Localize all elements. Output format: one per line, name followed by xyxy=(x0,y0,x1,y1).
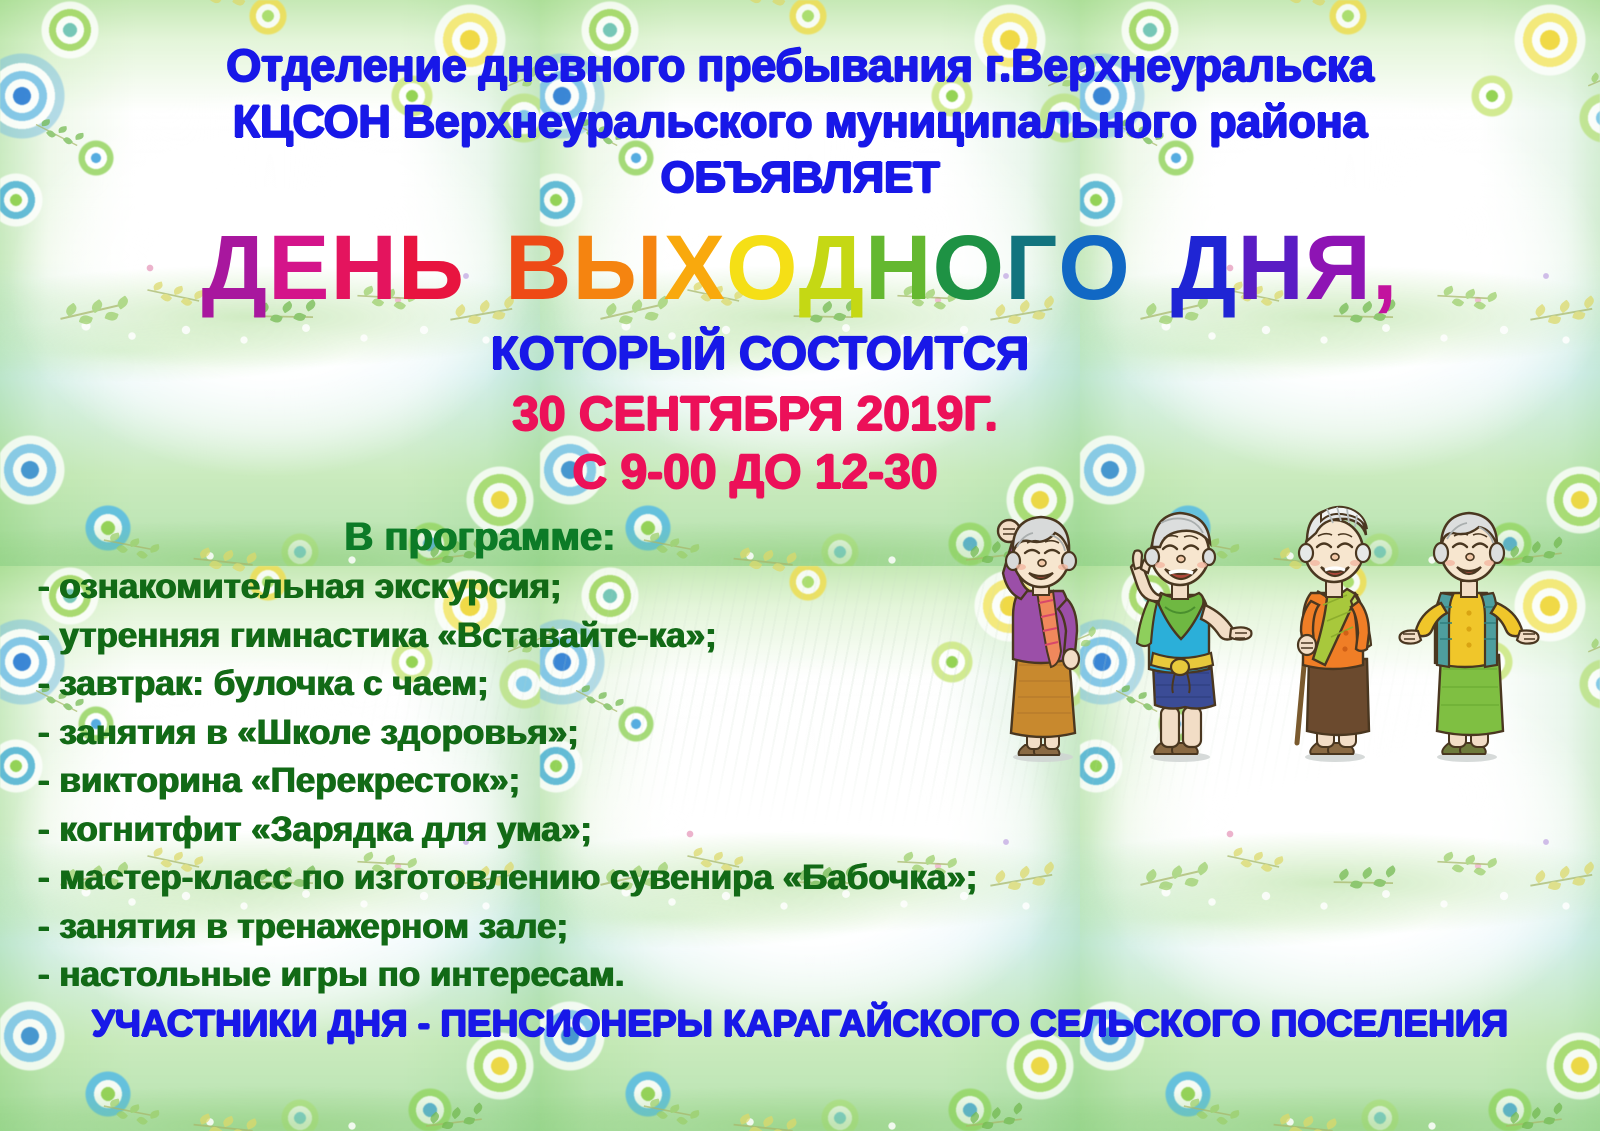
title-letter: В xyxy=(505,216,572,320)
datetime-block: 30 СЕНТЯБРЯ 2019Г. С 9-00 ДО 12-30 xyxy=(0,386,1600,502)
program-list-item: - когнитфит «Зарядка для ума»; xyxy=(38,806,1188,855)
event-time: С 9-00 ДО 12-30 xyxy=(0,444,1510,502)
title-letter: Д xyxy=(202,216,269,320)
title-letter: Я xyxy=(1305,216,1372,320)
program-list-item: - настольные игры по интересам. xyxy=(38,951,1188,1000)
figure-elderly-man-pointing xyxy=(1131,513,1251,762)
page-title-rainbow: ДЕНЬВЫХОДНОГОДНЯ, xyxy=(0,216,1600,320)
event-date: 30 СЕНТЯБРЯ 2019Г. xyxy=(0,386,1510,444)
figure-elderly-man-with-cane xyxy=(1297,507,1371,762)
title-letter: О xyxy=(726,216,799,320)
title-letter: , xyxy=(1372,216,1399,320)
title-letter: Г xyxy=(1005,216,1058,320)
subtitle-block: КОТОРЫЙ СОСТОИТСЯ xyxy=(0,326,1600,380)
poster-content: Отделение дневного пребывания г.Верхнеур… xyxy=(0,0,1600,1131)
title-letter: О xyxy=(933,216,1006,320)
title-letter: Н xyxy=(865,216,932,320)
poster-root: Отделение дневного пребывания г.Верхнеур… xyxy=(0,0,1600,1131)
title-letter: Х xyxy=(664,216,726,320)
poster-header: Отделение дневного пребывания г.Верхнеур… xyxy=(0,38,1600,206)
title-letter: Д xyxy=(799,216,866,320)
program-list-item: - мастер-класс по изготовлению сувенира … xyxy=(38,854,1188,903)
figure-elderly-woman-raised-fist xyxy=(998,517,1079,762)
title-letter: Н xyxy=(330,216,397,320)
title-letter: О xyxy=(1058,216,1131,320)
footer-participants: УЧАСТНИКИ ДНЯ - ПЕНСИОНЕРЫ КАРАГАЙСКОГО … xyxy=(0,1000,1600,1048)
header-line-announces: ОБЪЯВЛЯЕТ xyxy=(0,150,1600,206)
title-letter: Д xyxy=(1171,216,1238,320)
program-list-item: - занятия в тренажерном зале; xyxy=(38,903,1188,952)
title-letter: Ь xyxy=(398,216,465,320)
figure-elderly-woman-open-arms xyxy=(1400,513,1539,762)
program-list-item: - викторина «Перекресток»; xyxy=(38,757,1188,806)
title-letter: Ы xyxy=(572,216,663,320)
title-letter: Е xyxy=(268,216,330,320)
header-line-department: КЦСОН Верхнеуральского муниципального ра… xyxy=(0,94,1600,150)
four-elderly-people-clipart xyxy=(975,495,1545,763)
header-line-organization: Отделение дневного пребывания г.Верхнеур… xyxy=(0,38,1600,94)
title-letter: Н xyxy=(1237,216,1304,320)
subtitle-which-takes-place: КОТОРЫЙ СОСТОИТСЯ xyxy=(0,326,1520,380)
